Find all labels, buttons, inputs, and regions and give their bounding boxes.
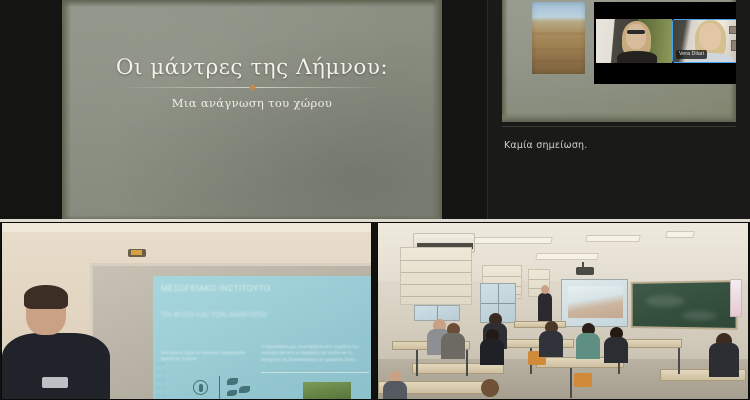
- chalkboard: [631, 280, 738, 330]
- diamond-ornament-icon: [248, 84, 255, 91]
- preview-landscape-photo: [532, 2, 585, 74]
- presenter-torso: [2, 333, 110, 400]
- participant-tile-1[interactable]: [596, 19, 672, 63]
- student: [538, 321, 564, 357]
- paper-deckle-top-edge: [62, 0, 442, 7]
- ceiling-light-icon: [665, 231, 694, 238]
- leaf-icon: [239, 386, 250, 393]
- student: [602, 327, 630, 367]
- video-call-strip[interactable]: Vera Dilari: [594, 2, 736, 84]
- projected-heading-line-1: ΜΕΣΟΓΕΙΑΚΟ ΙΝΣΤΙΤΟΥΤΟ: [161, 284, 371, 295]
- projected-heading-line-3: ΤΗ ΦΥΣΗ ΚΑΙ ΤΟΝ ΑΝΘΡΩΠΟ: [161, 310, 371, 320]
- ceiling-projector-icon: [576, 267, 594, 275]
- wall-poster: [730, 279, 742, 317]
- current-slide: Οι μάντρες της Λήμνου: Μια ανάγνωση του …: [62, 0, 442, 219]
- student: [478, 329, 506, 369]
- drop-icon: [193, 380, 208, 395]
- participant-1-face: [626, 24, 646, 49]
- current-slide-pane[interactable]: Οι μάντρες της Λήμνου: Μια ανάγνωση του …: [0, 0, 487, 219]
- student: [440, 323, 466, 359]
- projector-mount-icon: [128, 249, 146, 257]
- projected-body-right: Η παρουσίαση μας υποστηρίζεται από τη με…: [261, 344, 369, 363]
- ceiling-light-icon: [535, 253, 598, 260]
- classroom-projection-screen: [561, 279, 628, 327]
- camera-feed-left[interactable]: ΜΕΣΟΓΕΙΑΚΟ ΙΝΣΤΙΤΟΥΤΟ ΤΗ ΦΥΣΗ ΚΑΙ ΤΟΝ ΑΝ…: [1, 222, 372, 400]
- presenter-hair: [24, 285, 68, 309]
- participant-tile-2[interactable]: Vera Dilari: [672, 19, 736, 63]
- projected-body-left: Ένα κείμενο γύρω σε κοινωνίες ενημερωμέν…: [161, 350, 247, 363]
- preview-deckle-bottom-edge: [502, 113, 736, 122]
- ceiling-light-icon: [473, 237, 552, 244]
- leaf-icon: [227, 378, 238, 385]
- camera-feed-right[interactable]: [377, 222, 749, 400]
- notes-divider: [502, 126, 736, 127]
- presenter-head: [541, 285, 549, 294]
- participant-2-face: [699, 23, 721, 50]
- presenter-view-row: Οι μάντρες της Λήμνου: Μια ανάγνωση του …: [0, 0, 750, 219]
- next-slide-preview[interactable]: Vera Dilari: [502, 0, 736, 122]
- glasses-icon: [627, 30, 645, 34]
- projected-vertical-rule: [219, 376, 220, 400]
- slide-title-block: Οι μάντρες της Λήμνου: Μια ανάγνωση του …: [62, 56, 442, 110]
- ceiling-strip: [2, 223, 371, 232]
- participant-name-label: Vera Dilari: [676, 50, 707, 59]
- student: [474, 379, 506, 400]
- projected-photo-thumbnail: [303, 382, 351, 400]
- speaker-notes-text: Καμία σημείωση.: [502, 131, 738, 160]
- projected-rule: [261, 372, 369, 373]
- wall-picture-icon: [729, 26, 736, 34]
- classroom-projected-slide: [568, 286, 623, 318]
- participant-1-torso: [617, 51, 657, 63]
- ceiling-light-icon: [585, 235, 640, 242]
- title-divider-rule: [118, 87, 386, 88]
- window-blind: [400, 247, 472, 305]
- hoodie-logo: [42, 377, 68, 388]
- presenter-side-panel: Vera Dilari Καμία σημείωση.: [487, 0, 750, 219]
- classroom-presenter: [538, 285, 552, 325]
- student: [380, 371, 410, 400]
- slide-subtitle: Μια ανάγνωση του χώρου: [62, 96, 442, 110]
- presenter-screen-share: Οι μάντρες της Λήμνου: Μια ανάγνωση του …: [0, 0, 750, 400]
- camera-feeds-row: ΜΕΣΟΓΕΙΑΚΟ ΙΝΣΤΙΤΟΥΤΟ ΤΗ ΦΥΣΗ ΚΑΙ ΤΟΝ ΑΝ…: [0, 222, 750, 400]
- presenter-person: [8, 289, 108, 399]
- speaker-notes-area[interactable]: Καμία σημείωση.: [502, 131, 738, 215]
- projected-slide: ΜΕΣΟΓΕΙΑΚΟ ΙΝΣΤΙΤΟΥΤΟ ΤΗ ΦΥΣΗ ΚΑΙ ΤΟΝ ΑΝ…: [153, 276, 372, 400]
- chair: [574, 373, 592, 387]
- student: [708, 333, 740, 381]
- projection-screen: ΜΕΣΟΓΕΙΑΚΟ ΙΝΣΤΙΤΟΥΤΟ ΤΗ ΦΥΣΗ ΚΑΙ ΤΟΝ ΑΝ…: [90, 263, 372, 400]
- leaf-icon: [227, 390, 237, 396]
- slide-title: Οι μάντρες της Λήμνου:: [62, 56, 442, 80]
- wall-picture-icon: [731, 40, 736, 51]
- student: [574, 323, 602, 363]
